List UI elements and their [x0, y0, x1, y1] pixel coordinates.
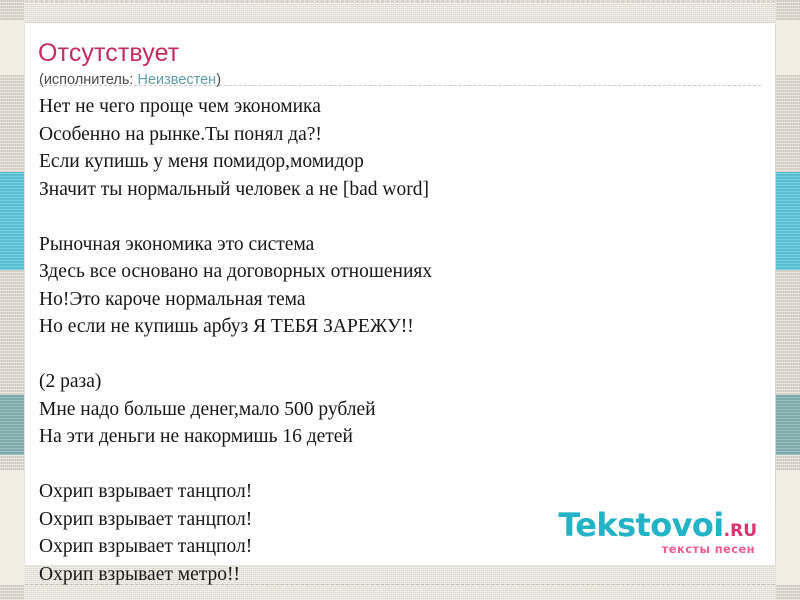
- lyrics-card: Отсутствует (исполнитель: Неизвестен) Не…: [25, 23, 775, 565]
- lyric-line: Особенно на рынке.Ты понял да?!: [39, 121, 761, 149]
- left-decorative-ribbon: [0, 0, 24, 600]
- lyric-line: Но если не купишь арбуз Я ТЕБЯ ЗАРЕЖУ!!: [39, 313, 761, 341]
- page-background: Отсутствует (исполнитель: Неизвестен) Не…: [0, 0, 800, 600]
- lyric-line-blank: [39, 451, 761, 479]
- ribbon-bright-teal-band: [776, 172, 800, 270]
- lyric-line: Здесь все основано на договорных отношен…: [39, 258, 761, 286]
- song-title: Отсутствует: [38, 39, 179, 68]
- ribbon-cream-block-bottom: [776, 470, 800, 585]
- ribbon-cream-block-top: [0, 20, 24, 75]
- lyric-line: Охрип взрывает танцпол!: [39, 478, 761, 506]
- lyric-line-blank: [39, 203, 761, 231]
- ribbon-cream-block-bottom: [0, 470, 24, 585]
- lyric-line: Рыночная экономика это система: [39, 231, 761, 259]
- ribbon-cream-block-top: [776, 20, 800, 75]
- lyric-line: (2 раза): [39, 368, 761, 396]
- ribbon-bright-teal-band: [0, 172, 24, 270]
- lyric-line: Если купишь у меня помидор,момидор: [39, 148, 761, 176]
- lyric-line: Значит ты нормальный человек а не [bad w…: [39, 176, 761, 204]
- site-logo-name: Tekstovoi: [558, 506, 723, 544]
- right-decorative-ribbon: [776, 0, 800, 600]
- site-logo-wordmark: Tekstovoi.RU: [558, 509, 757, 541]
- site-logo[interactable]: Tekstovoi.RU тексты песен: [558, 509, 757, 556]
- title-separator-rule: [39, 85, 761, 86]
- site-logo-tld: .RU: [724, 521, 757, 541]
- lyric-line-blank: [39, 341, 761, 369]
- lyric-line: На эти деньги не накормишь 16 детей: [39, 423, 761, 451]
- lyric-line: Нет не чего проще чем экономика: [39, 93, 761, 121]
- ribbon-muted-teal-band: [0, 395, 24, 455]
- lyric-line: Охрип взрывает метро!!: [39, 561, 761, 589]
- lyric-line: Но!Это кароче нормальная тема: [39, 286, 761, 314]
- lyric-line: Мне надо больше денег,мало 500 рублей: [39, 396, 761, 424]
- ribbon-muted-teal-band: [776, 395, 800, 455]
- site-logo-tagline: тексты песен: [558, 544, 755, 556]
- top-edge-divider: [0, 1, 800, 3]
